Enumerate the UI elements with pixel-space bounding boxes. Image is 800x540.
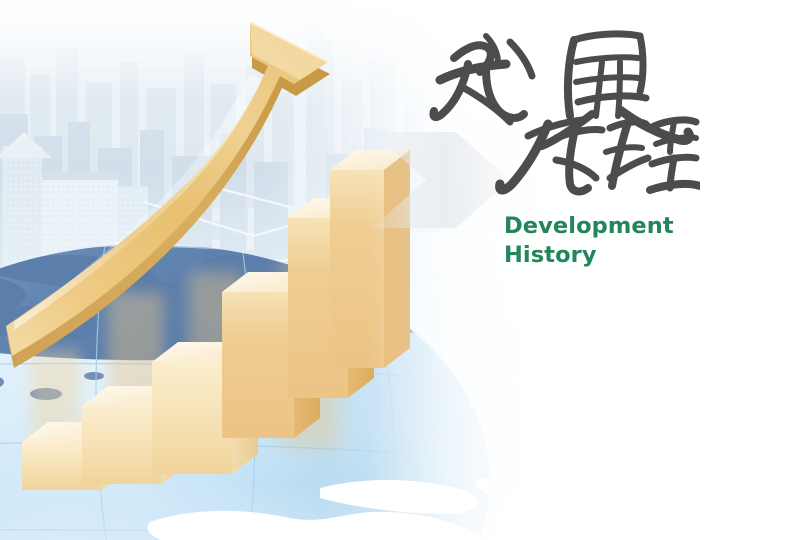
glyph-li	[500, 120, 602, 191]
glyph-fa	[433, 36, 532, 122]
english-title-line-1: Development	[504, 212, 764, 241]
title-block: Development History	[424, 18, 764, 270]
english-title: Development History	[504, 212, 764, 270]
english-title-line-2: History	[504, 241, 764, 270]
calligraphy-development-history	[424, 18, 700, 208]
banner-canvas: Development History	[0, 0, 800, 540]
